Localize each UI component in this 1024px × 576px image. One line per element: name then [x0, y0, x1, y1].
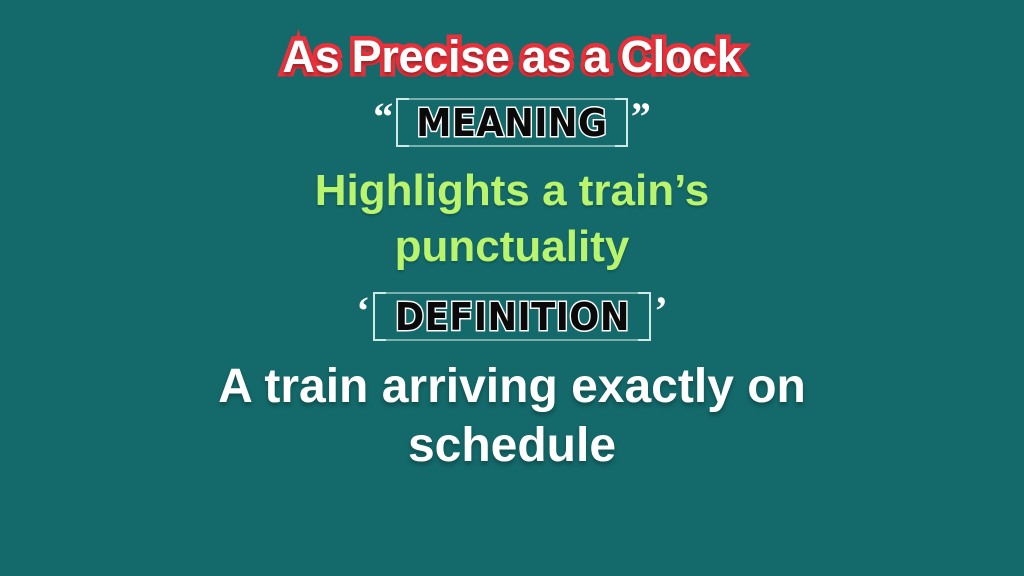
definition-label-row: ‘ DEFINITION ’ — [356, 292, 667, 341]
meaning-body: Highlights a train’s punctuality — [315, 163, 709, 276]
bracket-rail-bottom — [407, 145, 617, 147]
meaning-label: MEANING — [416, 104, 607, 142]
definition-body-line-2: schedule — [218, 416, 806, 476]
bracket-rail-top — [384, 292, 641, 294]
meaning-body-line-2: punctuality — [315, 219, 709, 275]
definition-body: A train arriving exactly on schedule — [218, 357, 806, 476]
slide-canvas: As Precise as a Clock “ MEANING ” Highli… — [0, 0, 1024, 576]
meaning-bracket-frame: MEANING — [396, 98, 628, 147]
meaning-body-line-1: Highlights a train’s — [315, 163, 709, 219]
page-title: As Precise as a Clock — [283, 34, 742, 80]
definition-bracket-frame: DEFINITION — [373, 292, 652, 341]
meaning-label-row: “ MEANING ” — [373, 98, 651, 147]
bracket-rail-bottom — [384, 339, 641, 341]
definition-body-line-1: A train arriving exactly on — [218, 357, 806, 417]
bracket-rail-top — [407, 98, 617, 100]
definition-label: DEFINITION — [394, 298, 629, 336]
